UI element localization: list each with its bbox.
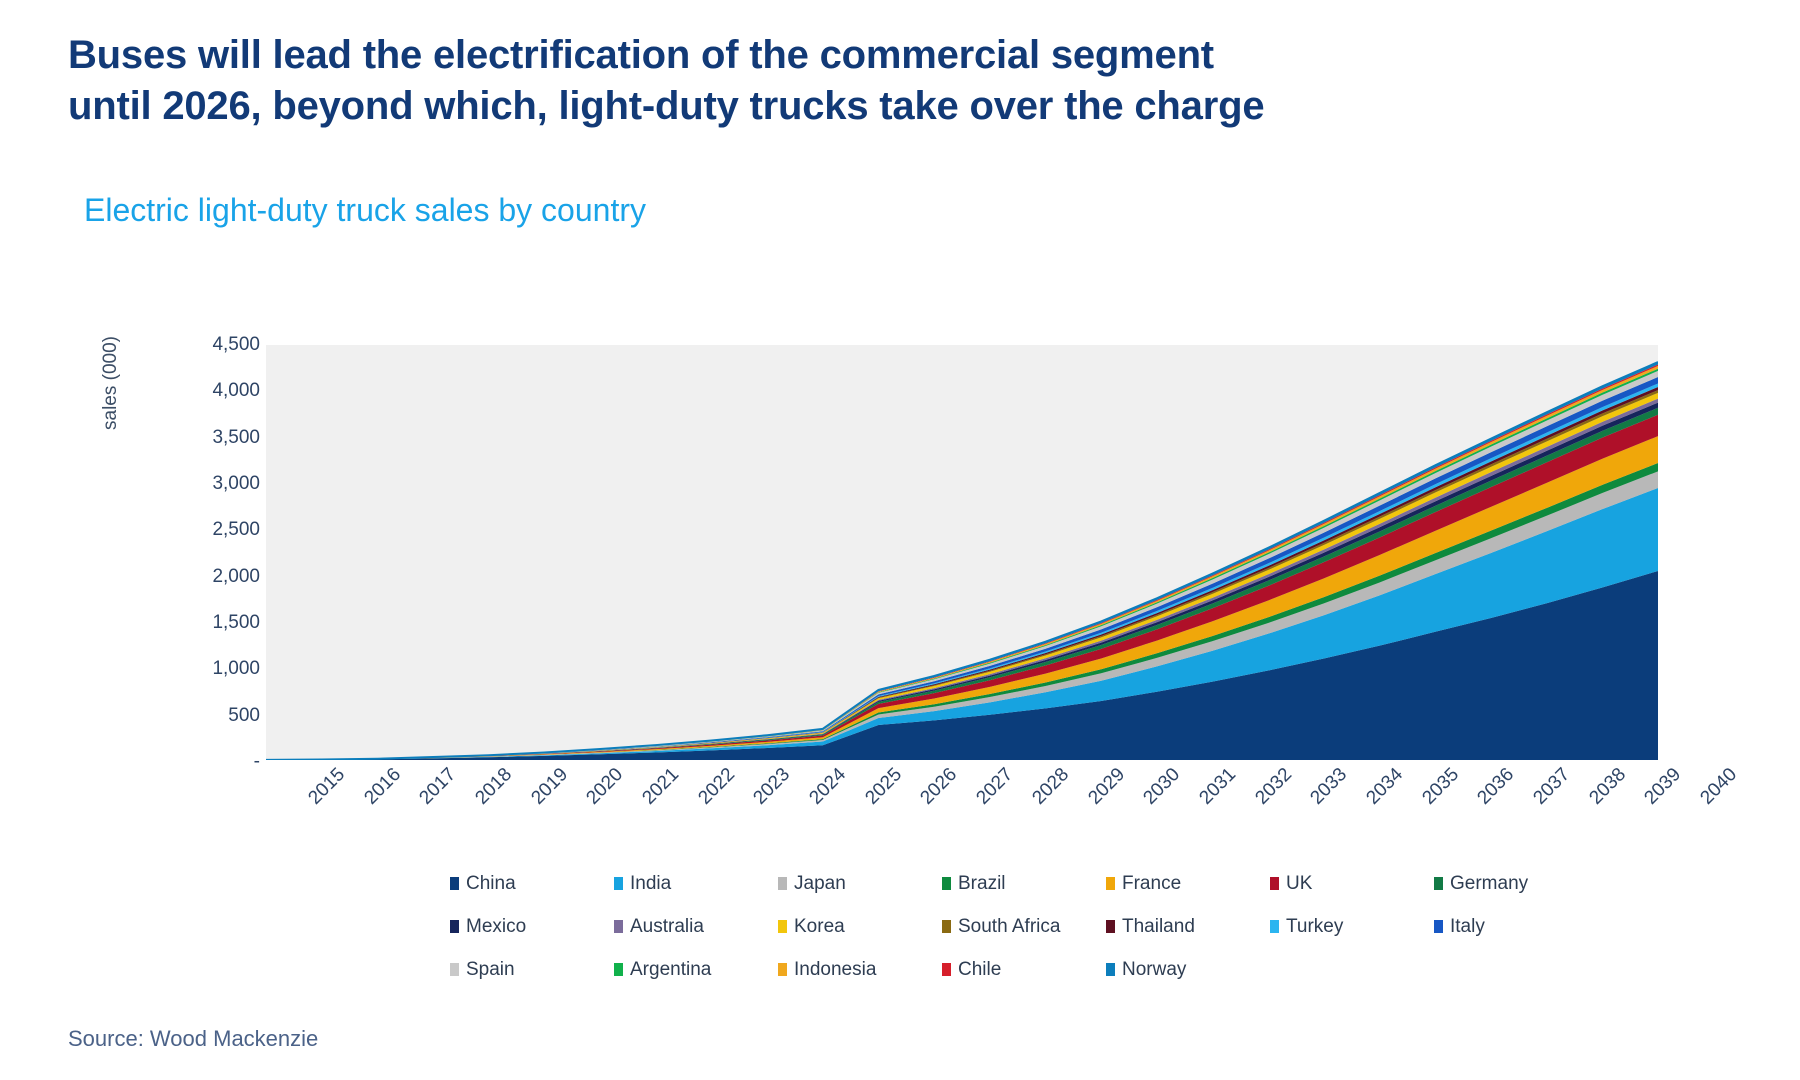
legend-item-south-africa[interactable]: South Africa [942, 916, 1106, 938]
legend-item-china[interactable]: China [450, 873, 614, 895]
legend-label: India [630, 873, 671, 895]
legend-label: UK [1286, 873, 1312, 895]
legend-swatch-icon [614, 920, 623, 933]
legend-label: Norway [1122, 959, 1186, 981]
plot-area [266, 345, 1658, 760]
legend-item-italy[interactable]: Italy [1434, 916, 1598, 938]
legend-item-mexico[interactable]: Mexico [450, 916, 614, 938]
x-axis-tick: 2025 [861, 764, 906, 809]
x-axis-tick: 2039 [1641, 764, 1686, 809]
legend-label: Australia [630, 916, 704, 938]
legend-label: France [1122, 873, 1181, 895]
legend-item-india[interactable]: India [614, 873, 778, 895]
legend-swatch-icon [1270, 920, 1279, 933]
legend-label: Germany [1450, 873, 1528, 895]
x-axis-tick: 2029 [1084, 764, 1129, 809]
y-axis-tick: 1,500 [155, 612, 260, 634]
y-axis-tick: 4,500 [155, 334, 260, 356]
legend-row: ChinaIndiaJapanBrazilFranceUKGermany [450, 862, 1600, 905]
legend-label: Spain [466, 959, 515, 981]
legend-item-japan[interactable]: Japan [778, 873, 942, 895]
x-axis-tick: 2024 [805, 764, 850, 809]
legend-item-thailand[interactable]: Thailand [1106, 916, 1270, 938]
legend-swatch-icon [942, 877, 951, 890]
legend-row: SpainArgentinaIndonesiaChileNorway [450, 948, 1600, 991]
y-axis-tick: 3,000 [155, 473, 260, 495]
x-axis-tick: 2030 [1140, 764, 1185, 809]
x-axis-tick: 2022 [694, 764, 739, 809]
x-axis-tick: 2016 [360, 764, 405, 809]
legend-swatch-icon [614, 963, 623, 976]
legend-item-france[interactable]: France [1106, 873, 1270, 895]
slide-root: Buses will lead the electrification of t… [0, 0, 1800, 1080]
legend-label: Turkey [1286, 916, 1343, 938]
y-axis-tick: 1,000 [155, 658, 260, 680]
x-axis-tick: 2038 [1585, 764, 1630, 809]
legend-swatch-icon [778, 920, 787, 933]
legend-swatch-icon [450, 920, 459, 933]
y-axis-tick: - [155, 751, 260, 773]
legend-item-spain[interactable]: Spain [450, 959, 614, 981]
legend-swatch-icon [778, 963, 787, 976]
legend-item-australia[interactable]: Australia [614, 916, 778, 938]
x-axis-tick: 2036 [1474, 764, 1519, 809]
legend-swatch-icon [450, 877, 459, 890]
legend-label: Italy [1450, 916, 1485, 938]
legend-item-indonesia[interactable]: Indonesia [778, 959, 942, 981]
legend-item-norway[interactable]: Norway [1106, 959, 1270, 981]
x-axis-tick: 2017 [416, 764, 461, 809]
legend-item-germany[interactable]: Germany [1434, 873, 1598, 895]
x-axis-tick: 2033 [1307, 764, 1352, 809]
x-axis-tick: 2037 [1529, 764, 1574, 809]
legend-swatch-icon [450, 963, 459, 976]
legend-swatch-icon [778, 877, 787, 890]
y-axis-ticks: -5001,0001,5002,0002,5003,0003,5004,0004… [155, 336, 260, 762]
legend-item-uk[interactable]: UK [1270, 873, 1434, 895]
legend-swatch-icon [942, 963, 951, 976]
legend-label: China [466, 873, 516, 895]
legend-label: Argentina [630, 959, 711, 981]
legend-label: Korea [794, 916, 845, 938]
legend-item-brazil[interactable]: Brazil [942, 873, 1106, 895]
legend-label: Brazil [958, 873, 1006, 895]
legend-swatch-icon [1106, 963, 1115, 976]
x-axis-tick: 2040 [1696, 764, 1741, 809]
y-axis-tick: 3,500 [155, 427, 260, 449]
x-axis-tick: 2028 [1028, 764, 1073, 809]
y-axis-tick: 2,500 [155, 519, 260, 541]
legend-label: Mexico [466, 916, 526, 938]
x-axis-tick: 2026 [917, 764, 962, 809]
x-axis-tick: 2032 [1251, 764, 1296, 809]
x-axis-ticks: 2015201620172018201920202021202220232024… [266, 764, 1658, 834]
y-axis-tick: 4,000 [155, 380, 260, 402]
legend-swatch-icon [1106, 877, 1115, 890]
x-axis-tick: 2031 [1195, 764, 1240, 809]
x-axis-tick: 2035 [1418, 764, 1463, 809]
legend-item-korea[interactable]: Korea [778, 916, 942, 938]
x-axis-tick: 2027 [973, 764, 1018, 809]
legend-swatch-icon [614, 877, 623, 890]
x-axis-tick: 2034 [1362, 764, 1407, 809]
x-axis-tick: 2020 [583, 764, 628, 809]
legend-item-chile[interactable]: Chile [942, 959, 1106, 981]
legend-item-turkey[interactable]: Turkey [1270, 916, 1434, 938]
x-axis-tick: 2018 [471, 764, 516, 809]
legend-swatch-icon [1270, 877, 1279, 890]
x-axis-tick: 2015 [304, 764, 349, 809]
stacked-area-svg [266, 345, 1658, 760]
y-axis-tick: 2,000 [155, 566, 260, 588]
legend-swatch-icon [1434, 920, 1443, 933]
legend-label: Indonesia [794, 959, 876, 981]
legend-label: Japan [794, 873, 846, 895]
legend-swatch-icon [1106, 920, 1115, 933]
chart-legend: ChinaIndiaJapanBrazilFranceUKGermanyMexi… [450, 862, 1600, 991]
y-axis-tick: 500 [155, 705, 260, 727]
legend-item-argentina[interactable]: Argentina [614, 959, 778, 981]
source-note: Source: Wood Mackenzie [68, 1026, 318, 1052]
x-axis-tick: 2021 [638, 764, 683, 809]
x-axis-tick: 2019 [527, 764, 572, 809]
legend-row: MexicoAustraliaKoreaSouth AfricaThailand… [450, 905, 1600, 948]
x-axis-tick: 2023 [750, 764, 795, 809]
legend-swatch-icon [1434, 877, 1443, 890]
legend-label: Thailand [1122, 916, 1195, 938]
legend-label: Chile [958, 959, 1001, 981]
y-axis-title: sales (000) [100, 336, 122, 430]
legend-label: South Africa [958, 916, 1060, 938]
legend-swatch-icon [942, 920, 951, 933]
